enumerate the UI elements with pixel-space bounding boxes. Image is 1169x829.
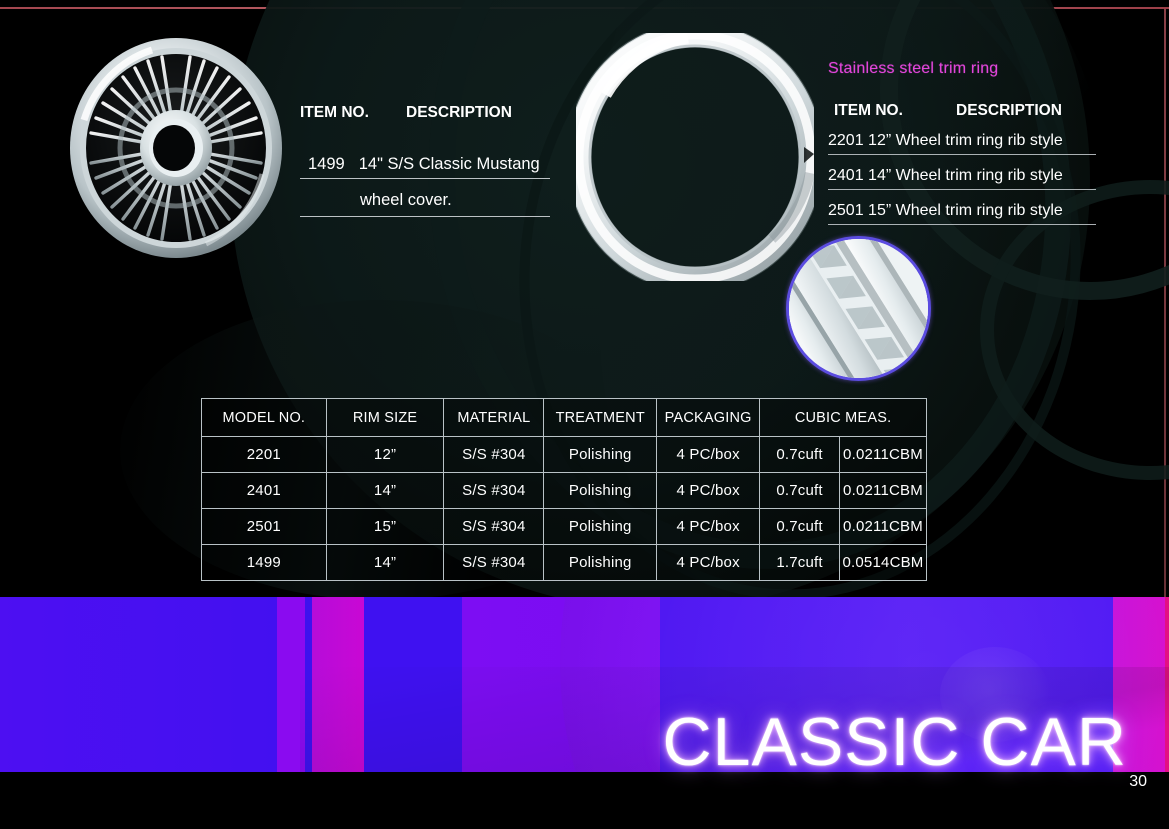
top-divider-rule (0, 7, 1169, 9)
catalog-page: ITEM NO. DESCRIPTION 149914" S/S Classic… (0, 0, 1169, 829)
cell-treatment: Polishing (544, 437, 657, 473)
wheel-cover-rule-2 (300, 216, 550, 217)
table-row: 2501 15” S/S #304 Polishing 4 PC/box 0.7… (202, 509, 927, 545)
cell-rim-size: 12” (326, 437, 444, 473)
header-description: DESCRIPTION (406, 104, 512, 122)
cell-cuft: 0.7cuft (760, 437, 840, 473)
cell-material: S/S #304 (444, 509, 544, 545)
trim-ring-row: 2501 15” Wheel trim ring rib style (828, 202, 1103, 220)
cell-material: S/S #304 (444, 545, 544, 581)
bottom-color-banner (0, 597, 1169, 772)
column-header-material: MATERIAL (444, 399, 544, 437)
cell-model-no: 2201 (202, 437, 327, 473)
trim-ring-row: 2401 14” Wheel trim ring rib style (828, 167, 1103, 185)
trim-ring-spec-block: Stainless steel trim ring ITEM NO. DESCR… (828, 60, 1103, 225)
cell-cbm: 0.0514CBM (839, 545, 926, 581)
column-header-packaging: PACKAGING (657, 399, 760, 437)
banner-band-blue-1 (0, 597, 277, 772)
cell-rim-size: 14” (326, 545, 444, 581)
cell-cbm: 0.0211CBM (839, 473, 926, 509)
cell-material: S/S #304 (444, 437, 544, 473)
wheel-cover-description-line2: wheel cover. (300, 191, 570, 210)
cell-cbm: 0.0211CBM (839, 509, 926, 545)
detail-inset-image (786, 236, 931, 381)
cell-treatment: Polishing (544, 545, 657, 581)
table-row: 1499 14” S/S #304 Polishing 4 PC/box 1.7… (202, 545, 927, 581)
background-ghost-arc-lower (980, 180, 1169, 480)
cell-treatment: Polishing (544, 509, 657, 545)
cell-cuft: 0.7cuft (760, 509, 840, 545)
trim-ring-description: 15” Wheel trim ring rib style (868, 202, 1063, 219)
header-item-no: ITEM NO. (834, 102, 956, 120)
trim-ring-image (576, 33, 814, 281)
cell-cuft: 1.7cuft (760, 545, 840, 581)
trim-ring-title: Stainless steel trim ring (828, 60, 1103, 78)
right-divider-rule (1164, 9, 1166, 597)
trim-ring-spec-header: ITEM NO. DESCRIPTION (828, 102, 1103, 120)
trim-ring-item-no: 2501 (828, 202, 864, 219)
column-header-model-no: MODEL NO. (202, 399, 327, 437)
cell-cbm: 0.0211CBM (839, 437, 926, 473)
trim-ring-row: 2201 12” Wheel trim ring rib style (828, 132, 1103, 150)
trim-ring-description: 12” Wheel trim ring rib style (868, 132, 1063, 149)
wheel-cover-item-no: 1499 (308, 155, 345, 173)
banner-band-magenta-1 (312, 597, 364, 772)
cell-model-no: 1499 (202, 545, 327, 581)
cell-model-no: 2501 (202, 509, 327, 545)
header-description: DESCRIPTION (956, 102, 1062, 120)
cell-model-no: 2401 (202, 473, 327, 509)
wheel-cover-rule-1 (300, 178, 550, 179)
cell-material: S/S #304 (444, 473, 544, 509)
cell-rim-size: 14” (326, 473, 444, 509)
column-header-treatment: TREATMENT (544, 399, 657, 437)
wheel-cover-spec-header: ITEM NO. DESCRIPTION (300, 104, 570, 122)
cell-packaging: 4 PC/box (657, 509, 760, 545)
cell-packaging: 4 PC/box (657, 473, 760, 509)
column-header-rim-size: RIM SIZE (326, 399, 444, 437)
trim-ring-item-no: 2401 (828, 167, 864, 184)
trim-ring-rule-1 (828, 154, 1096, 155)
banner-band-violet-2 (462, 597, 660, 772)
banner-band-blue-2 (305, 597, 312, 772)
banner-band-blue-3 (364, 597, 462, 772)
trim-ring-rule-3 (828, 224, 1096, 225)
cell-packaging: 4 PC/box (657, 545, 760, 581)
table-row: 2201 12” S/S #304 Polishing 4 PC/box 0.7… (202, 437, 927, 473)
specification-table: MODEL NO. RIM SIZE MATERIAL TREATMENT PA… (201, 398, 927, 581)
table-row: 2401 14” S/S #304 Polishing 4 PC/box 0.7… (202, 473, 927, 509)
cell-treatment: Polishing (544, 473, 657, 509)
wheel-cover-description-line1: 14" S/S Classic Mustang (359, 155, 540, 173)
wheel-cover-image (66, 34, 286, 262)
trim-ring-rule-2 (828, 189, 1096, 190)
banner-band-blue-4 (660, 597, 1113, 772)
banner-band-magenta-2 (1113, 597, 1165, 772)
wheel-cover-spec-block: ITEM NO. DESCRIPTION 149914" S/S Classic… (300, 104, 570, 217)
column-header-cubic-meas: CUBIC MEAS. (760, 399, 927, 437)
page-number: 30 (1129, 773, 1147, 791)
table-header-row: MODEL NO. RIM SIZE MATERIAL TREATMENT PA… (202, 399, 927, 437)
wheel-cover-row: 149914" S/S Classic Mustang (300, 155, 570, 174)
header-item-no: ITEM NO. (300, 104, 406, 122)
banner-band-pink-edge (1165, 597, 1169, 772)
cell-packaging: 4 PC/box (657, 437, 760, 473)
trim-ring-description: 14” Wheel trim ring rib style (868, 167, 1063, 184)
cell-cuft: 0.7cuft (760, 473, 840, 509)
trim-ring-item-no: 2201 (828, 132, 864, 149)
cell-rim-size: 15” (326, 509, 444, 545)
banner-band-violet-1 (277, 597, 305, 772)
